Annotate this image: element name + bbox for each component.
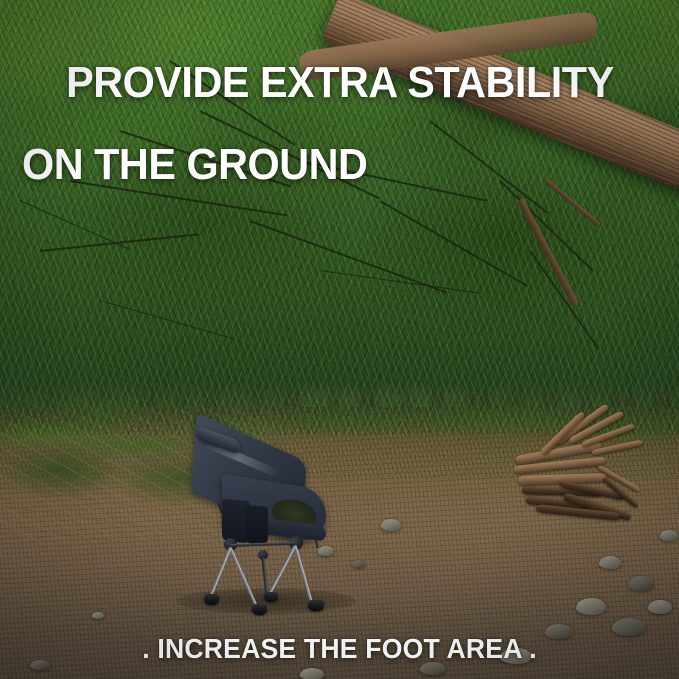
headline: PROVIDE EXTRA STABILITY ON THE GROUND: [22, 22, 614, 267]
chair-side-pocket-inner: [246, 505, 268, 545]
cut-branch-pile: [512, 430, 652, 525]
rock: [660, 530, 678, 541]
chair-leg-front-right: [294, 545, 314, 605]
chair-leg-back-right: [267, 545, 296, 596]
headline-line-1: PROVIDE EXTRA STABILITY: [66, 58, 614, 107]
rock: [599, 556, 621, 569]
rock: [648, 600, 672, 614]
chair-foot-front-left: [252, 604, 267, 615]
headline-line-2: ON THE GROUND: [22, 145, 614, 186]
rock: [92, 612, 104, 619]
bottom-caption: . INCREASE THE FOOT AREA .: [17, 633, 662, 665]
rock: [381, 519, 401, 531]
chair-foot-back-right: [264, 592, 278, 602]
rock: [628, 576, 654, 591]
folding-camping-chair: [186, 424, 336, 614]
chair-leg-front-left: [229, 547, 259, 609]
chair-foot-front-right: [308, 600, 324, 611]
product-lifestyle-image: PROVIDE EXTRA STABILITY ON THE GROUND . …: [0, 0, 679, 679]
rock: [576, 598, 606, 615]
rock: [352, 560, 365, 568]
chair-foot-back-left: [204, 594, 219, 605]
chair-crossbar: [230, 542, 294, 547]
rock: [300, 668, 324, 679]
